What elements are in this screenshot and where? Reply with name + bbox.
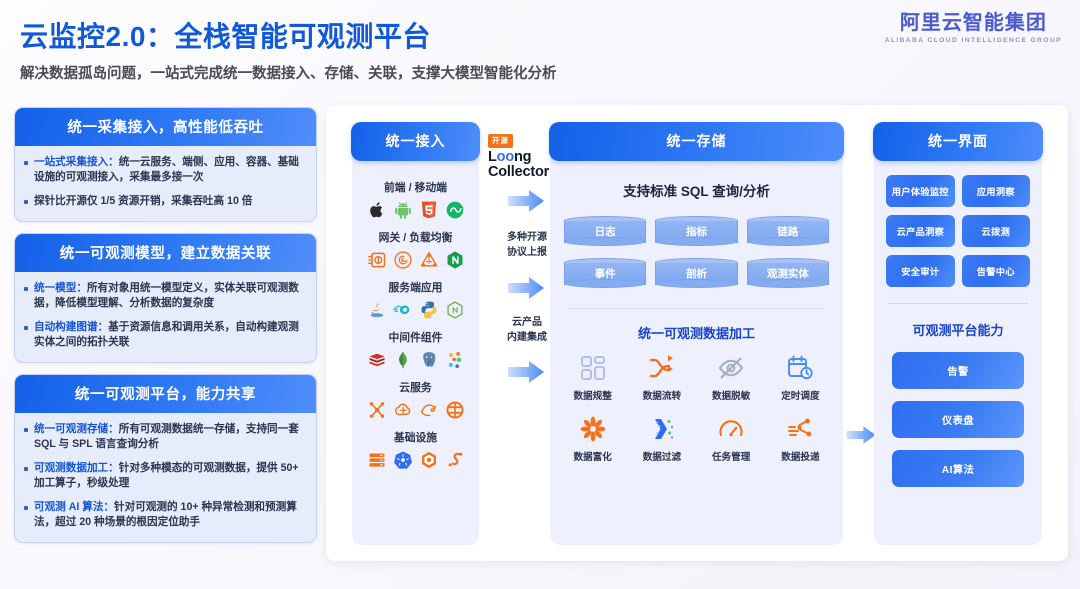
feature-card-2-title: 统一可观测模型，建立数据关联: [15, 234, 316, 272]
capability-list: 告警 仪表盘 AI算法: [874, 339, 1042, 487]
panel-unified-storage-title: 统一存储: [549, 122, 844, 161]
bullet-lead: 统一模型：: [34, 282, 87, 294]
storage-cylinder[interactable]: 事件: [564, 258, 646, 288]
loongcollector-line2: Collector: [488, 164, 549, 180]
bullet-dot-icon: [24, 200, 28, 204]
panel-unified-ingest: 统一接入 前端 / 移动端 网关 / 负载均衡 服务端应用: [352, 123, 479, 545]
bullet-lead: 可观测 AI 算法：: [34, 501, 114, 513]
cylinder-label: 剖析: [655, 266, 737, 281]
feature-bullet: 统一可观测存储：所有可观测数据统一存储，支持同一套 SQL 与 SPL 语言查询…: [24, 422, 305, 452]
flow-arrow-icon: [845, 423, 877, 447]
processing-item[interactable]: 定时调度: [767, 354, 834, 404]
page-title: 云监控2.0：全栈智能可观测平台: [20, 15, 431, 55]
bullet-dot-icon: [24, 161, 28, 165]
feature-bullet: 一站式采集接入：统一云服务、端侧、应用、容器、基础设施的可观测接入，采集最多接一…: [24, 155, 305, 185]
ui-chip[interactable]: 云产品洞察: [886, 215, 955, 247]
processing-item[interactable]: 数据规整: [559, 354, 626, 404]
slide-root: 云监控2.0：全栈智能可观测平台 解决数据孤岛问题，一站式完成统一数据接入、存储…: [0, 0, 1080, 589]
cylinder-label: 指标: [655, 224, 737, 239]
capability-chip[interactable]: 告警: [892, 352, 1024, 389]
kubernetes-icon: [393, 450, 413, 470]
asterisk-flower-icon: [579, 415, 607, 443]
postgresql-icon: [419, 350, 439, 370]
ui-divider: [888, 303, 1028, 304]
processing-item-label: 任务管理: [712, 452, 750, 463]
feature-card-1-title: 统一采集接入，高性能低吞吐: [15, 108, 316, 146]
bullet-dot-icon: [24, 287, 28, 291]
python-icon: [419, 300, 439, 320]
cylinder-label: 观测实体: [747, 266, 829, 281]
ingest-group-label: 服务端应用: [358, 279, 473, 295]
processing-item-label: 数据富化: [573, 452, 611, 463]
feature-card-3: 统一可观测平台，能力共享 统一可观测存储：所有可观测数据统一存储，支持同一套 S…: [14, 374, 317, 543]
processing-item-label: 数据流转: [643, 391, 681, 402]
redis-icon: [367, 350, 387, 370]
gauge-icon: [717, 415, 745, 443]
processing-item-label: 数据过滤: [643, 452, 681, 463]
ingest-group-icons: [358, 400, 473, 420]
processing-item[interactable]: 数据投递: [767, 415, 834, 465]
processing-grid: 数据规整 数据流转 数据脱敏 定时调度 数据富化: [550, 342, 843, 465]
processing-item[interactable]: 数据脱敏: [698, 354, 765, 404]
html5-icon: [419, 200, 439, 220]
panel-unified-ingest-title: 统一接入: [351, 122, 480, 161]
java-icon: [367, 300, 387, 320]
cloud-service-3-icon: [419, 400, 439, 420]
bullet-lead: 统一可观测存储：: [34, 423, 119, 435]
capability-title: 可观测平台能力: [874, 320, 1042, 339]
nodejs-icon: [445, 300, 465, 320]
eye-off-icon: [717, 354, 745, 382]
storage-cylinder[interactable]: 剖析: [655, 258, 737, 288]
ui-chip[interactable]: 应用洞察: [962, 175, 1031, 207]
android-icon: [393, 200, 413, 220]
cylinder-label: 链路: [747, 224, 829, 239]
feature-bullet: 统一模型：所有对象用统一模型定义，实体关联可观测数据，降低模型理解、分析数据的复…: [24, 281, 305, 311]
traefik-icon: [419, 250, 439, 270]
bullet-dot-icon: [24, 428, 28, 432]
bullet-text: 探针比开源仅 1/5 资源开销，采集吞吐高 10 倍: [34, 195, 252, 207]
capability-chip[interactable]: AI算法: [892, 450, 1024, 487]
feature-bullet: 可观测数据加工：针对多种模态的可观测数据，提供 50+ 加工算子，秒级处理: [24, 461, 305, 491]
ui-chip-grid: 用户体验监控 应用洞察 云产品洞察 云拨测 安全审计 告警中心: [874, 161, 1042, 287]
bullet-dot-icon: [24, 506, 28, 510]
page-subtitle: 解决数据孤岛问题，一站式完成统一数据接入、存储、关联，支撑大模型智能化分析: [20, 62, 557, 83]
processing-item-label: 数据脱敏: [712, 391, 750, 402]
grid-blocks-icon: [579, 354, 607, 382]
ingest-group-label: 前端 / 移动端: [358, 179, 473, 195]
processing-item-label: 数据规整: [573, 391, 611, 402]
storage-cylinder[interactable]: 指标: [655, 216, 737, 246]
processing-item[interactable]: 数据富化: [559, 415, 626, 465]
processing-item[interactable]: 任务管理: [698, 415, 765, 465]
feature-card-2: 统一可观测模型，建立数据关联 统一模型：所有对象用统一模型定义，实体关联可观测数…: [14, 233, 317, 363]
open-source-badge: 开源: [488, 134, 513, 148]
storage-cylinder-grid: 日志 指标 链路 事件 剖析 观测实体: [550, 200, 843, 288]
wechat-miniprogram-icon: [445, 200, 465, 220]
cloud-service-4-icon: [445, 400, 465, 420]
architecture-board: 统一接入 前端 / 移动端 网关 / 负载均衡 服务端应用: [326, 105, 1068, 561]
server-icon: [367, 450, 387, 470]
ingest-group-icons: [358, 250, 473, 270]
loongcollector-line1: Loong: [488, 149, 531, 165]
envoy-icon: [393, 250, 413, 270]
panel-unified-ui: 统一界面 用户体验监控 应用洞察 云产品洞察 云拨测 安全审计 告警中心 可观测…: [874, 123, 1042, 545]
loongcollector-name: Loong Collector: [488, 150, 549, 180]
flow-arrow-icon: [506, 188, 546, 214]
ingest-group-icons: [358, 200, 473, 220]
ingest-group-label: 基础设施: [358, 429, 473, 445]
ingest-group-icons: [358, 450, 473, 470]
ui-chip[interactable]: 告警中心: [962, 255, 1031, 287]
calendar-clock-icon: [786, 354, 814, 382]
ingest-group-icons: [358, 350, 473, 370]
bullet-dot-icon: [24, 326, 28, 330]
feature-card-1: 统一采集接入，高性能低吞吐 一站式采集接入：统一云服务、端侧、应用、容器、基础设…: [14, 107, 317, 222]
ingest-group-label: 网关 / 负载均衡: [358, 229, 473, 245]
ingest-group-label: 中间件组件: [358, 329, 473, 345]
storage-cylinder[interactable]: 观测实体: [747, 258, 829, 288]
bullet-lead: 自动构建图谱：: [34, 321, 108, 333]
apple-icon: [367, 200, 387, 220]
brand-logo-en: ALIBABA CLOUD INTELLIGENCE GROUP: [885, 37, 1062, 44]
cloud-service-2-icon: [393, 400, 413, 420]
ingest-group-icons: [358, 300, 473, 320]
cylinder-label: 日志: [564, 224, 646, 239]
processing-item[interactable]: 数据流转: [628, 354, 695, 404]
container-icon: [419, 450, 439, 470]
bullet-dot-icon: [24, 467, 28, 471]
ingest-group-label: 云服务: [358, 379, 473, 395]
cylinder-label: 事件: [564, 266, 646, 281]
sql-support-title: 支持标准 SQL 查询/分析: [550, 180, 843, 200]
feature-card-3-title: 统一可观测平台，能力共享: [15, 375, 316, 413]
shuffle-icon: [648, 354, 676, 382]
brand-logo: 阿里云智能集团 ALIBABA CLOUD INTELLIGENCE GROUP: [885, 12, 1062, 44]
mongodb-icon: [393, 350, 413, 370]
feature-bullet: 自动构建图谱：基于资源信息和调用关系，自动构建观测实体之间的拓扑关联: [24, 320, 305, 350]
feature-bullet: 可观测 AI 算法：针对可观测的 10+ 种异常检测和预测算法，超过 20 种场…: [24, 500, 305, 530]
processing-item-label: 定时调度: [781, 391, 819, 402]
panel-unified-storage: 统一存储 支持标准 SQL 查询/分析 日志 指标 链路 事件 剖析 观测实体 …: [550, 123, 843, 545]
ui-chip[interactable]: 云拨测: [962, 215, 1031, 247]
processing-title: 统一可观测数据加工: [550, 323, 843, 342]
network-icon: [445, 450, 465, 470]
flow-arrow-icon: [506, 359, 546, 385]
storage-cylinder[interactable]: 日志: [564, 216, 646, 246]
capability-chip[interactable]: 仪表盘: [892, 401, 1024, 438]
storage-cylinder[interactable]: 链路: [747, 216, 829, 246]
flow-arrow-icon: [506, 275, 546, 301]
filter-funnel-icon: [648, 415, 676, 443]
feature-bullet: 探针比开源仅 1/5 资源开销，采集吞吐高 10 倍: [24, 194, 305, 209]
higress-icon: [367, 250, 387, 270]
kafka-icon: [445, 350, 465, 370]
ui-chip[interactable]: 用户体验监控: [886, 175, 955, 207]
bullet-lead: 一站式采集接入：: [34, 156, 119, 168]
left-feature-column: 统一采集接入，高性能低吞吐 一站式采集接入：统一云服务、端侧、应用、容器、基础设…: [14, 107, 317, 554]
processing-item-label: 数据投递: [781, 452, 819, 463]
nginx-icon: [445, 250, 465, 270]
golang-icon: [393, 300, 413, 320]
storage-divider: [568, 308, 825, 309]
processing-item[interactable]: 数据过滤: [628, 415, 695, 465]
panel-unified-ui-title: 统一界面: [873, 122, 1043, 161]
bullet-lead: 可观测数据加工：: [34, 462, 119, 474]
cloud-service-1-icon: [367, 400, 387, 420]
delivery-node-icon: [786, 415, 814, 443]
ui-chip[interactable]: 安全审计: [886, 255, 955, 287]
brand-logo-cn: 阿里云智能集团: [885, 12, 1062, 34]
